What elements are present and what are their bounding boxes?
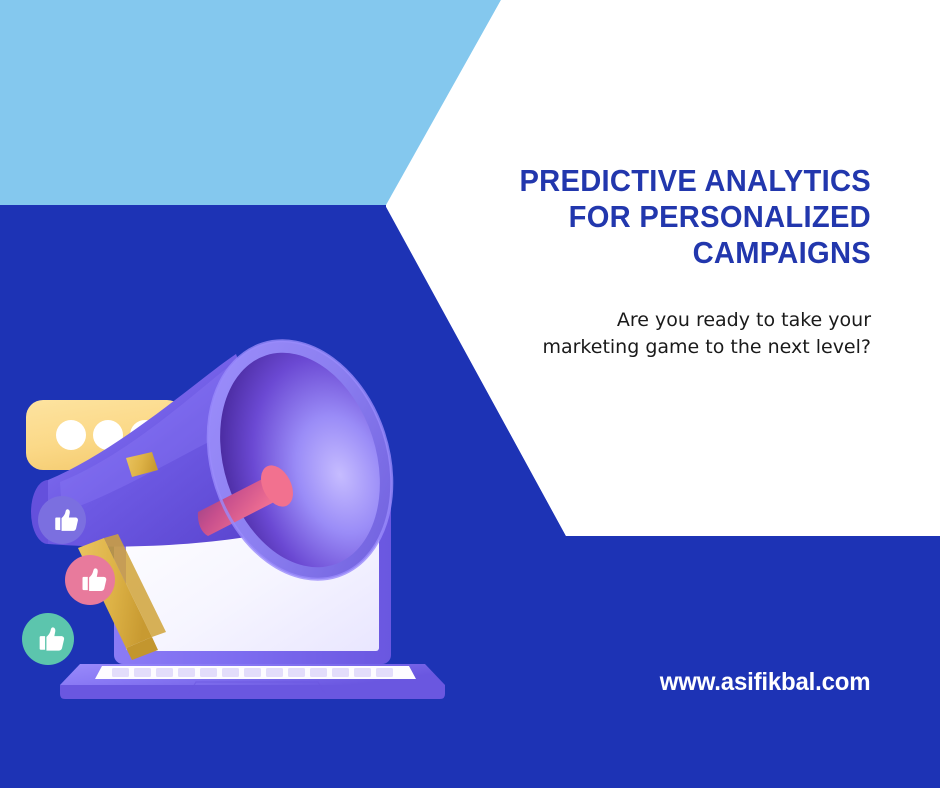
headline-block: PREDICTIVE ANALYTICS FOR PERSONALIZED CA…: [451, 163, 871, 361]
page-subtitle: Are you ready to take your marketing gam…: [451, 271, 871, 361]
reaction-thumbs-up-pink: [65, 555, 115, 605]
website-url[interactable]: www.asifikbal.com: [659, 668, 870, 697]
page-title: PREDICTIVE ANALYTICS FOR PERSONALIZED CA…: [470, 163, 871, 271]
laptop-keyboard: [95, 666, 416, 679]
hero-illustration: [0, 330, 520, 730]
poster-canvas: PREDICTIVE ANALYTICS FOR PERSONALIZED CA…: [0, 0, 940, 788]
reaction-thumbs-up-green: [22, 613, 74, 665]
reaction-thumbs-up-purple: [38, 496, 86, 544]
